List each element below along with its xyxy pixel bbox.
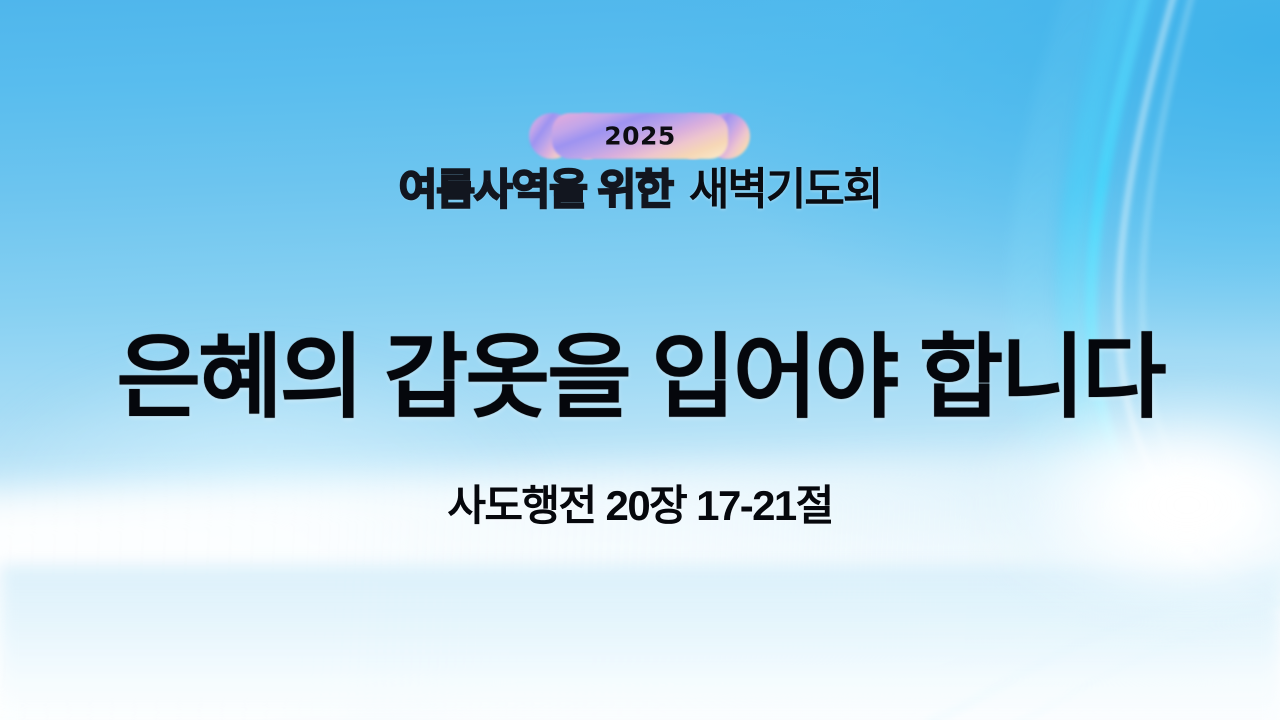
sermon-title: 은혜의 갑옷을 입어야 합니다 — [0, 330, 1280, 427]
worship-title-slide: 2025 여름사역을 위한새벽기도회 은혜의 갑옷을 입어야 합니다 사도행전 … — [0, 0, 1280, 720]
theme-bold-text: 새벽기도회 — [689, 168, 881, 212]
theme-light-text: 여름사역을 위한 — [399, 169, 673, 211]
event-theme-line: 여름사역을 위한새벽기도회 — [0, 168, 1280, 212]
scripture-reference: 사도행전 20장 17-21절 — [0, 483, 1280, 529]
event-header: 2025 여름사역을 위한새벽기도회 — [0, 112, 1280, 212]
slide-content: 2025 여름사역을 위한새벽기도회 은혜의 갑옷을 입어야 합니다 사도행전 … — [0, 0, 1280, 720]
year-label: 2025 — [525, 124, 755, 149]
year-badge: 2025 — [525, 112, 755, 160]
